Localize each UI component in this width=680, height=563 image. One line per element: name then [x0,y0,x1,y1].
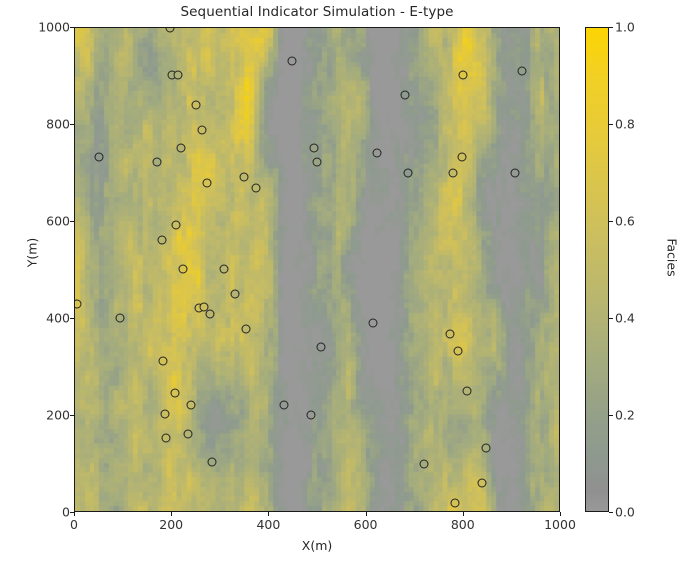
well-marker[interactable] [482,444,491,453]
well-marker[interactable] [208,457,217,466]
well-marker[interactable] [152,157,161,166]
well-marker[interactable] [95,153,104,162]
colorbar-tick-label: 1.0 [615,20,649,35]
y-axis-tick-labels: 02004006008001000 [14,27,70,512]
colorbar-tick-label: 0.8 [615,117,649,132]
well-marker[interactable] [186,401,195,410]
colorbar-tick-marks [609,27,613,512]
well-marker[interactable] [161,409,170,418]
well-marker[interactable] [198,126,207,135]
well-marker[interactable] [451,498,460,507]
well-marker[interactable] [511,168,520,177]
colorbar-tick-labels: 0.00.20.40.60.81.0 [615,27,655,512]
well-marker[interactable] [170,389,179,398]
well-marker[interactable] [178,265,187,274]
x-tick-mark [366,512,367,516]
well-marker[interactable] [310,144,319,153]
x-tick-label: 400 [238,517,298,532]
y-tick-mark [70,221,74,222]
well-marker[interactable] [316,342,325,351]
colorbar-gradient [585,27,609,512]
colorbar-tick-label: 0.6 [615,214,649,229]
x-axis-title: X(m) [74,538,560,553]
well-marker[interactable] [174,71,183,80]
well-marker[interactable] [191,101,200,110]
figure-canvas: Sequential Indicator Simulation - E-type… [0,0,680,563]
y-tick-label: 400 [24,311,70,326]
x-axis-tick-marks [74,512,560,516]
well-marker[interactable] [457,153,466,162]
well-marker[interactable] [206,309,215,318]
y-axis-title: Y(m) [25,193,40,313]
colorbar-tick-label: 0.2 [615,408,649,423]
y-tick-mark [70,124,74,125]
well-marker[interactable] [231,290,240,299]
well-marker[interactable] [313,158,322,167]
well-marker[interactable] [74,300,82,309]
well-marker[interactable] [518,66,527,75]
colorbar-tick-mark [609,512,613,513]
x-tick-mark [268,512,269,516]
colorbar-tick-mark [609,221,613,222]
colorbar-tick-mark [609,318,613,319]
well-marker[interactable] [400,91,409,100]
y-tick-mark [70,318,74,319]
well-marker[interactable] [369,318,378,327]
well-marker[interactable] [458,70,467,79]
well-marker[interactable] [373,149,382,158]
well-marker[interactable] [453,347,462,356]
y-axis-tick-marks [70,27,74,512]
x-tick-label: 800 [433,517,493,532]
well-marker[interactable] [446,329,455,338]
well-marker[interactable] [203,178,212,187]
well-marker[interactable] [404,168,413,177]
x-tick-mark [560,512,561,516]
well-marker[interactable] [462,386,471,395]
well-marker[interactable] [162,433,171,442]
x-tick-mark [74,512,75,516]
well-marker[interactable] [287,57,296,66]
well-marker[interactable] [419,460,428,469]
y-tick-mark [70,415,74,416]
colorbar-tick-mark [609,124,613,125]
well-marker[interactable] [240,172,249,181]
colorbar-tick-label: 0.0 [615,505,649,520]
x-tick-label: 200 [141,517,201,532]
colorbar-tick-label: 0.4 [615,311,649,326]
y-tick-label: 200 [24,408,70,423]
well-marker[interactable] [219,265,228,274]
colorbar-tick-mark [609,27,613,28]
well-marker[interactable] [157,235,166,244]
page-title: Sequential Indicator Simulation - E-type [74,4,560,20]
well-marker[interactable] [115,314,124,323]
heatmap-plot-area[interactable] [74,27,560,512]
y-tick-mark [70,27,74,28]
x-tick-label: 600 [336,517,396,532]
well-marker[interactable] [172,221,181,230]
colorbar-tick-mark [609,415,613,416]
y-tick-label: 1000 [24,20,70,35]
well-marker[interactable] [176,144,185,153]
well-marker[interactable] [279,401,288,410]
well-marker[interactable] [478,478,487,487]
well-marker-layer [75,28,559,511]
x-tick-label: 0 [44,517,104,532]
x-tick-label: 1000 [530,517,590,532]
colorbar-title: Facies [665,198,680,318]
well-marker[interactable] [166,27,175,33]
x-tick-mark [463,512,464,516]
well-marker[interactable] [251,184,260,193]
well-marker[interactable] [159,357,168,366]
x-tick-mark [171,512,172,516]
well-marker[interactable] [449,168,458,177]
well-marker[interactable] [307,410,316,419]
x-axis-tick-labels: 02004006008001000 [74,517,560,537]
well-marker[interactable] [242,324,251,333]
y-tick-label: 800 [24,117,70,132]
well-marker[interactable] [183,429,192,438]
